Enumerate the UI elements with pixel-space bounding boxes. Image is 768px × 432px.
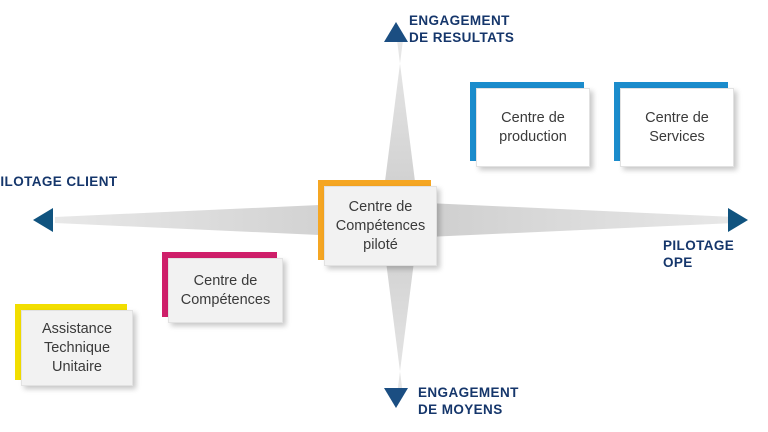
- arrow-up-icon: [384, 22, 408, 42]
- arrow-down-icon: [384, 388, 408, 408]
- axis-label-pilotage-client: PILOTAGE CLIENT: [0, 173, 118, 190]
- node-centre-services[interactable]: Centre de Services: [620, 88, 734, 167]
- axis-label-engagement-resultats: ENGAGEMENT DE RESULTATS: [409, 12, 514, 46]
- arrow-left-icon: [33, 208, 53, 232]
- arrow-right-icon: [728, 208, 748, 232]
- node-centre-production[interactable]: Centre de production: [476, 88, 590, 167]
- node-assistance-technique[interactable]: Assistance Technique Unitaire: [21, 310, 133, 386]
- axis-label-pilotage-ope: PILOTAGE OPE: [663, 237, 768, 271]
- diagram-canvas: ENGAGEMENT DE RESULTATS ENGAGEMENT DE MO…: [0, 0, 768, 432]
- node-centre-competences[interactable]: Centre de Compétences: [168, 258, 283, 323]
- axis-label-engagement-moyens: ENGAGEMENT DE MOYENS: [418, 384, 519, 418]
- node-centre-competences-pilote[interactable]: Centre de Compétences piloté: [324, 186, 437, 266]
